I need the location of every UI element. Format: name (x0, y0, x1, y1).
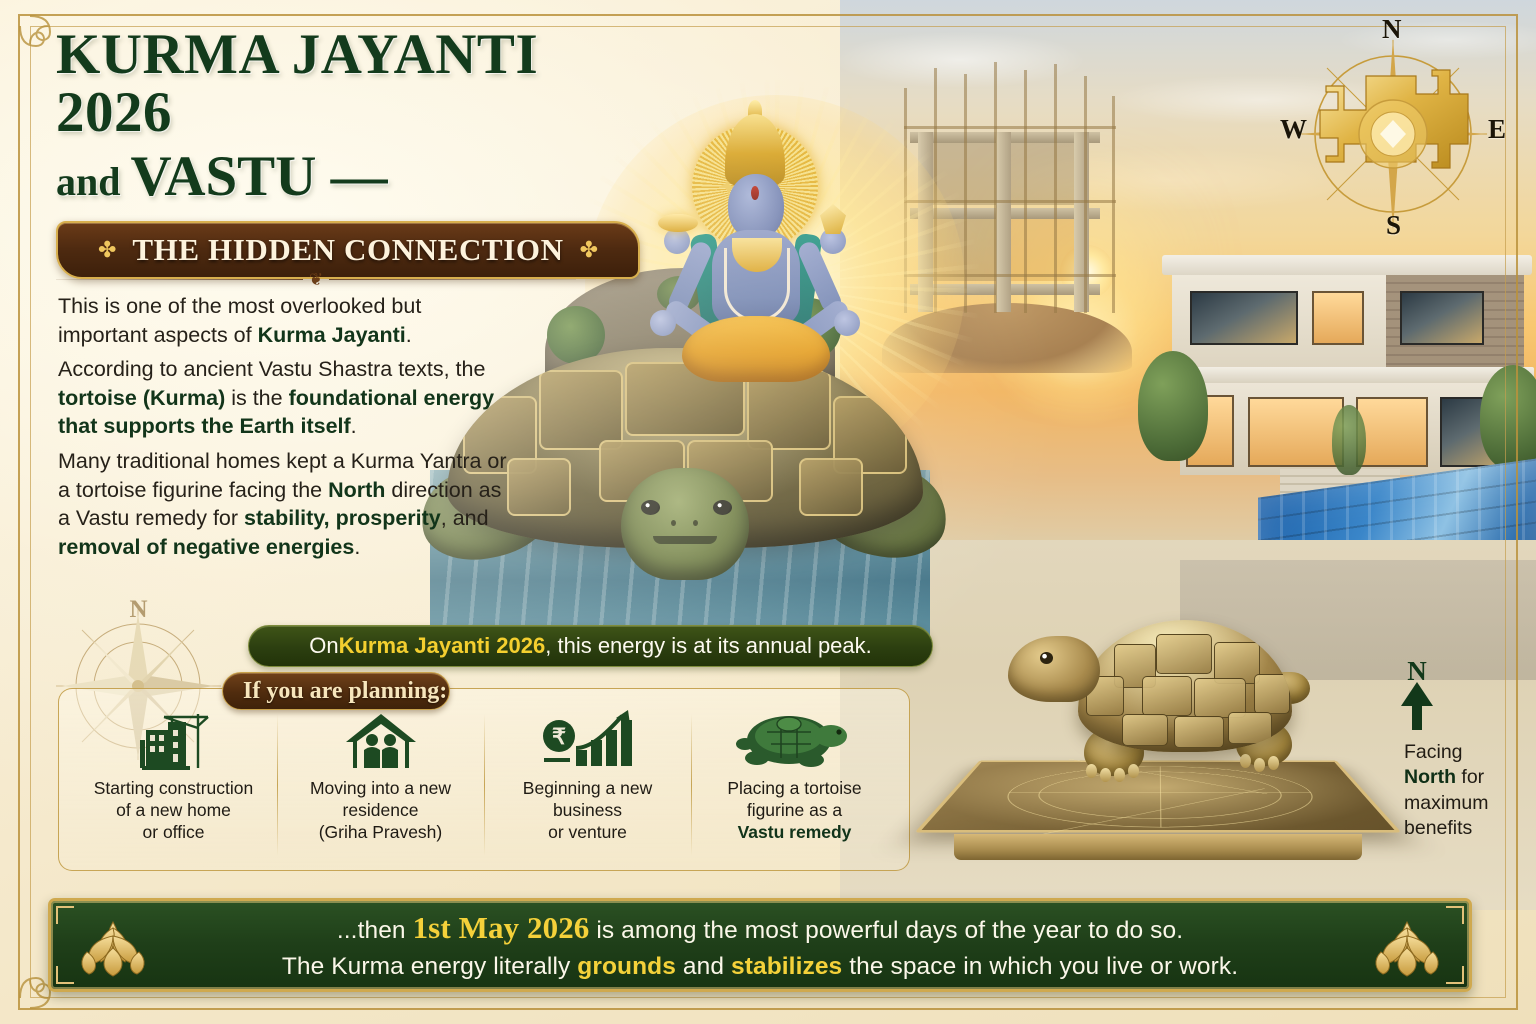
page-subtitle: and VASTU — (56, 144, 656, 209)
note-line-3: maximum (1404, 792, 1489, 814)
annual-peak-banner: On Kurma Jayanti 2026, this energy is at… (248, 625, 933, 667)
subtitle-vastu: VASTU — (131, 145, 388, 208)
title-block: KURMA JAYANTI 2026 and VASTU — ✤ THE HID… (56, 26, 656, 279)
p2-text-a: According to ancient Vastu Shastra texts… (58, 357, 485, 381)
sudarshana-chakra (658, 214, 698, 232)
intro-paragraphs: This is one of the most overlooked but i… (58, 292, 513, 567)
label-line-3: or venture (548, 822, 627, 842)
planning-item-griha-pravesh[interactable]: Moving into a new residence (Griha Prave… (277, 700, 484, 868)
banner-corner-ornament (56, 966, 74, 984)
label-line-3: (Griha Pravesh) (319, 822, 443, 842)
paragraph-2: According to ancient Vastu Shastra texts… (58, 355, 513, 441)
ornamental-divider: ❦ (56, 272, 576, 286)
planning-items-grid: Starting construction of a new home or o… (70, 700, 898, 868)
p3-text-g: . (354, 535, 360, 559)
compass-north-label: N (1382, 14, 1402, 45)
p3-bold-stability: stability, prosperity (244, 506, 441, 530)
label-line-1: Moving into a new (310, 778, 451, 798)
house-family-icon (344, 708, 418, 770)
label-line-2: figurine as a (747, 800, 842, 820)
ribbon-label: THE HIDDEN CONNECTION (132, 232, 563, 268)
north-direction-arrow: N (1396, 660, 1438, 732)
vastu-yantra-plate (915, 760, 1402, 832)
banner-text: ...then 1st May 2026 is among the most p… (282, 906, 1238, 985)
label-line-1: Placing a tortoise (727, 778, 861, 798)
p2-text-e: . (351, 414, 357, 438)
paragraph-3: Many traditional homes kept a Kurma Yant… (58, 447, 513, 561)
paragraph-1: This is one of the most overlooked but i… (58, 292, 513, 349)
lotus-icon (77, 918, 149, 978)
compass-south-label: S (1386, 210, 1401, 241)
subtitle-and: and (56, 159, 131, 204)
p3-bold-north: North (328, 478, 385, 502)
north-label: N (1407, 656, 1427, 687)
p2-text-c: is the (225, 386, 288, 410)
p3-bold-removal: removal of negative energies (58, 535, 354, 559)
infographic-poster: KURMA JAYANTI 2026 and VASTU — ✤ THE HID… (0, 0, 1536, 1024)
banner-line2-b: and (676, 953, 731, 980)
banner-date: 1st May 2026 (413, 910, 590, 945)
brass-head (1008, 636, 1100, 702)
bottom-call-to-action-banner: ...then 1st May 2026 is among the most p… (48, 898, 1472, 992)
vastu-yantra-compass: N W E S (1298, 14, 1488, 252)
note-line-2: for (1456, 766, 1484, 788)
banner-line-2: The Kurma energy literally grounds and s… (282, 950, 1238, 985)
p1-text-c: . (406, 323, 412, 347)
svg-text:₹: ₹ (552, 724, 566, 749)
vishnu-figure (620, 130, 890, 380)
banner-line2-c: the space in which you live or work. (842, 953, 1238, 980)
banner-corner-ornament (1446, 906, 1464, 924)
p2-bold-1: tortoise (Kurma) (58, 386, 225, 410)
flower-ornament-icon: ✤ (580, 237, 598, 263)
label-line-1: Starting construction (94, 778, 254, 798)
divider-line-right (329, 279, 576, 280)
shankha-conch (820, 204, 846, 234)
label-line-3-bold: Vastu remedy (738, 822, 852, 842)
brass-eye (1040, 652, 1053, 664)
planning-item-tortoise-remedy[interactable]: Placing a tortoise figurine as a Vastu r… (691, 700, 898, 868)
label-line-2: residence (343, 800, 419, 820)
banner-keyword-grounds: grounds (577, 953, 676, 980)
p1-bold: Kurma Jayanti (258, 323, 406, 347)
banner-line1-pre: ...then (337, 917, 413, 944)
plate-rim (954, 834, 1362, 860)
label-line-1: Beginning a new (523, 778, 652, 798)
lotus-icon (1371, 918, 1443, 978)
rupee-growth-chart-icon: ₹ (542, 708, 634, 770)
banner-keyword-stabilizes: stabilizes (731, 953, 842, 980)
compass-north-label: N (129, 596, 147, 624)
banner-corner-ornament (56, 906, 74, 924)
banner-line1-post: is among the most powerful days of the y… (589, 917, 1183, 944)
label-line-3: or office (143, 822, 205, 842)
tortoise-figurine-icon (735, 708, 855, 770)
page-title: KURMA JAYANTI 2026 (56, 26, 656, 142)
planning-item-label: Placing a tortoise figurine as a Vastu r… (727, 777, 861, 843)
label-line-2: business (553, 800, 622, 820)
label-line-2: of a new home (116, 800, 231, 820)
dhoti (682, 316, 830, 382)
banner-line-1: ...then 1st May 2026 is among the most p… (282, 906, 1238, 950)
planning-item-construction[interactable]: Starting construction of a new home or o… (70, 700, 277, 868)
compass-west-label: W (1280, 114, 1307, 145)
peak-post: , this energy is at its annual peak. (545, 633, 872, 659)
note-line-4: benefits (1404, 817, 1472, 839)
brass-tortoise-figurine (930, 588, 1400, 898)
note-bold-north: North (1404, 766, 1456, 788)
divider-line-left (56, 279, 303, 280)
tilak (751, 186, 759, 200)
construction-crane-icon (134, 708, 214, 770)
planning-item-label: Beginning a new business or venture (523, 777, 652, 843)
facing-north-note: Facing North for maximum benefits (1404, 740, 1522, 841)
p3-text-e: , and (441, 506, 489, 530)
peak-highlight: Kurma Jayanti 2026 (339, 633, 546, 659)
note-line-1: Facing (1404, 741, 1463, 763)
divider-ornament-icon: ❦ (303, 271, 329, 288)
tortoise-head (621, 468, 749, 580)
peak-pre: On (309, 633, 338, 659)
mala (724, 248, 790, 322)
brass-shell (1078, 620, 1292, 752)
planning-item-label: Starting construction of a new home or o… (94, 777, 254, 843)
planning-item-label: Moving into a new residence (Griha Prave… (310, 777, 451, 843)
flower-ornament-icon: ✤ (98, 237, 116, 263)
hidden-connection-ribbon: ✤ THE HIDDEN CONNECTION ✤ (56, 221, 640, 279)
banner-corner-ornament (1446, 966, 1464, 984)
banner-line2-a: The Kurma energy literally (282, 953, 577, 980)
planning-item-new-business[interactable]: ₹ Beginning a new business or venture (484, 700, 691, 868)
compass-east-label: E (1488, 114, 1506, 145)
